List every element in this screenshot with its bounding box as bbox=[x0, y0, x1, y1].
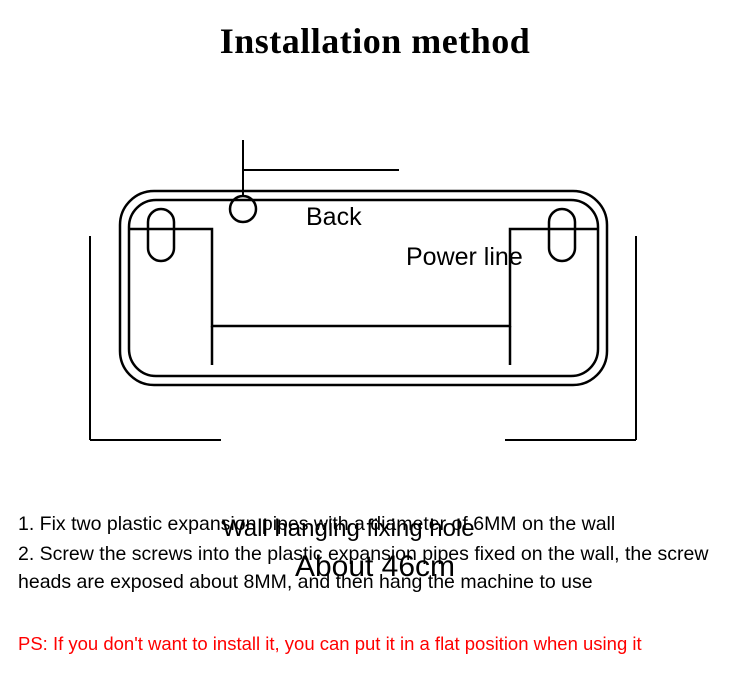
label-power-line: Power line bbox=[406, 243, 523, 272]
dimension-bracket-icon bbox=[90, 236, 636, 440]
diagram-svg bbox=[0, 95, 750, 495]
instruction-step-1: 1. Fix two plastic expansion pipes with … bbox=[18, 510, 734, 538]
instructions-block: 1. Fix two plastic expansion pipes with … bbox=[18, 510, 734, 598]
ps-note: PS: If you don't want to install it, you… bbox=[18, 632, 734, 656]
device-inner-recess-icon bbox=[129, 229, 598, 365]
label-back: Back bbox=[306, 203, 362, 232]
rounded-slot-hole-icon-left bbox=[148, 209, 174, 261]
instruction-step-2: 2. Screw the screws into the plastic exp… bbox=[18, 540, 734, 596]
page-title: Installation method bbox=[0, 20, 750, 62]
rounded-slot-hole-icon-right bbox=[549, 209, 575, 261]
installation-diagram: Back Power line Wall hanging fixing hole… bbox=[0, 95, 750, 495]
device-outline-icon bbox=[120, 191, 607, 385]
